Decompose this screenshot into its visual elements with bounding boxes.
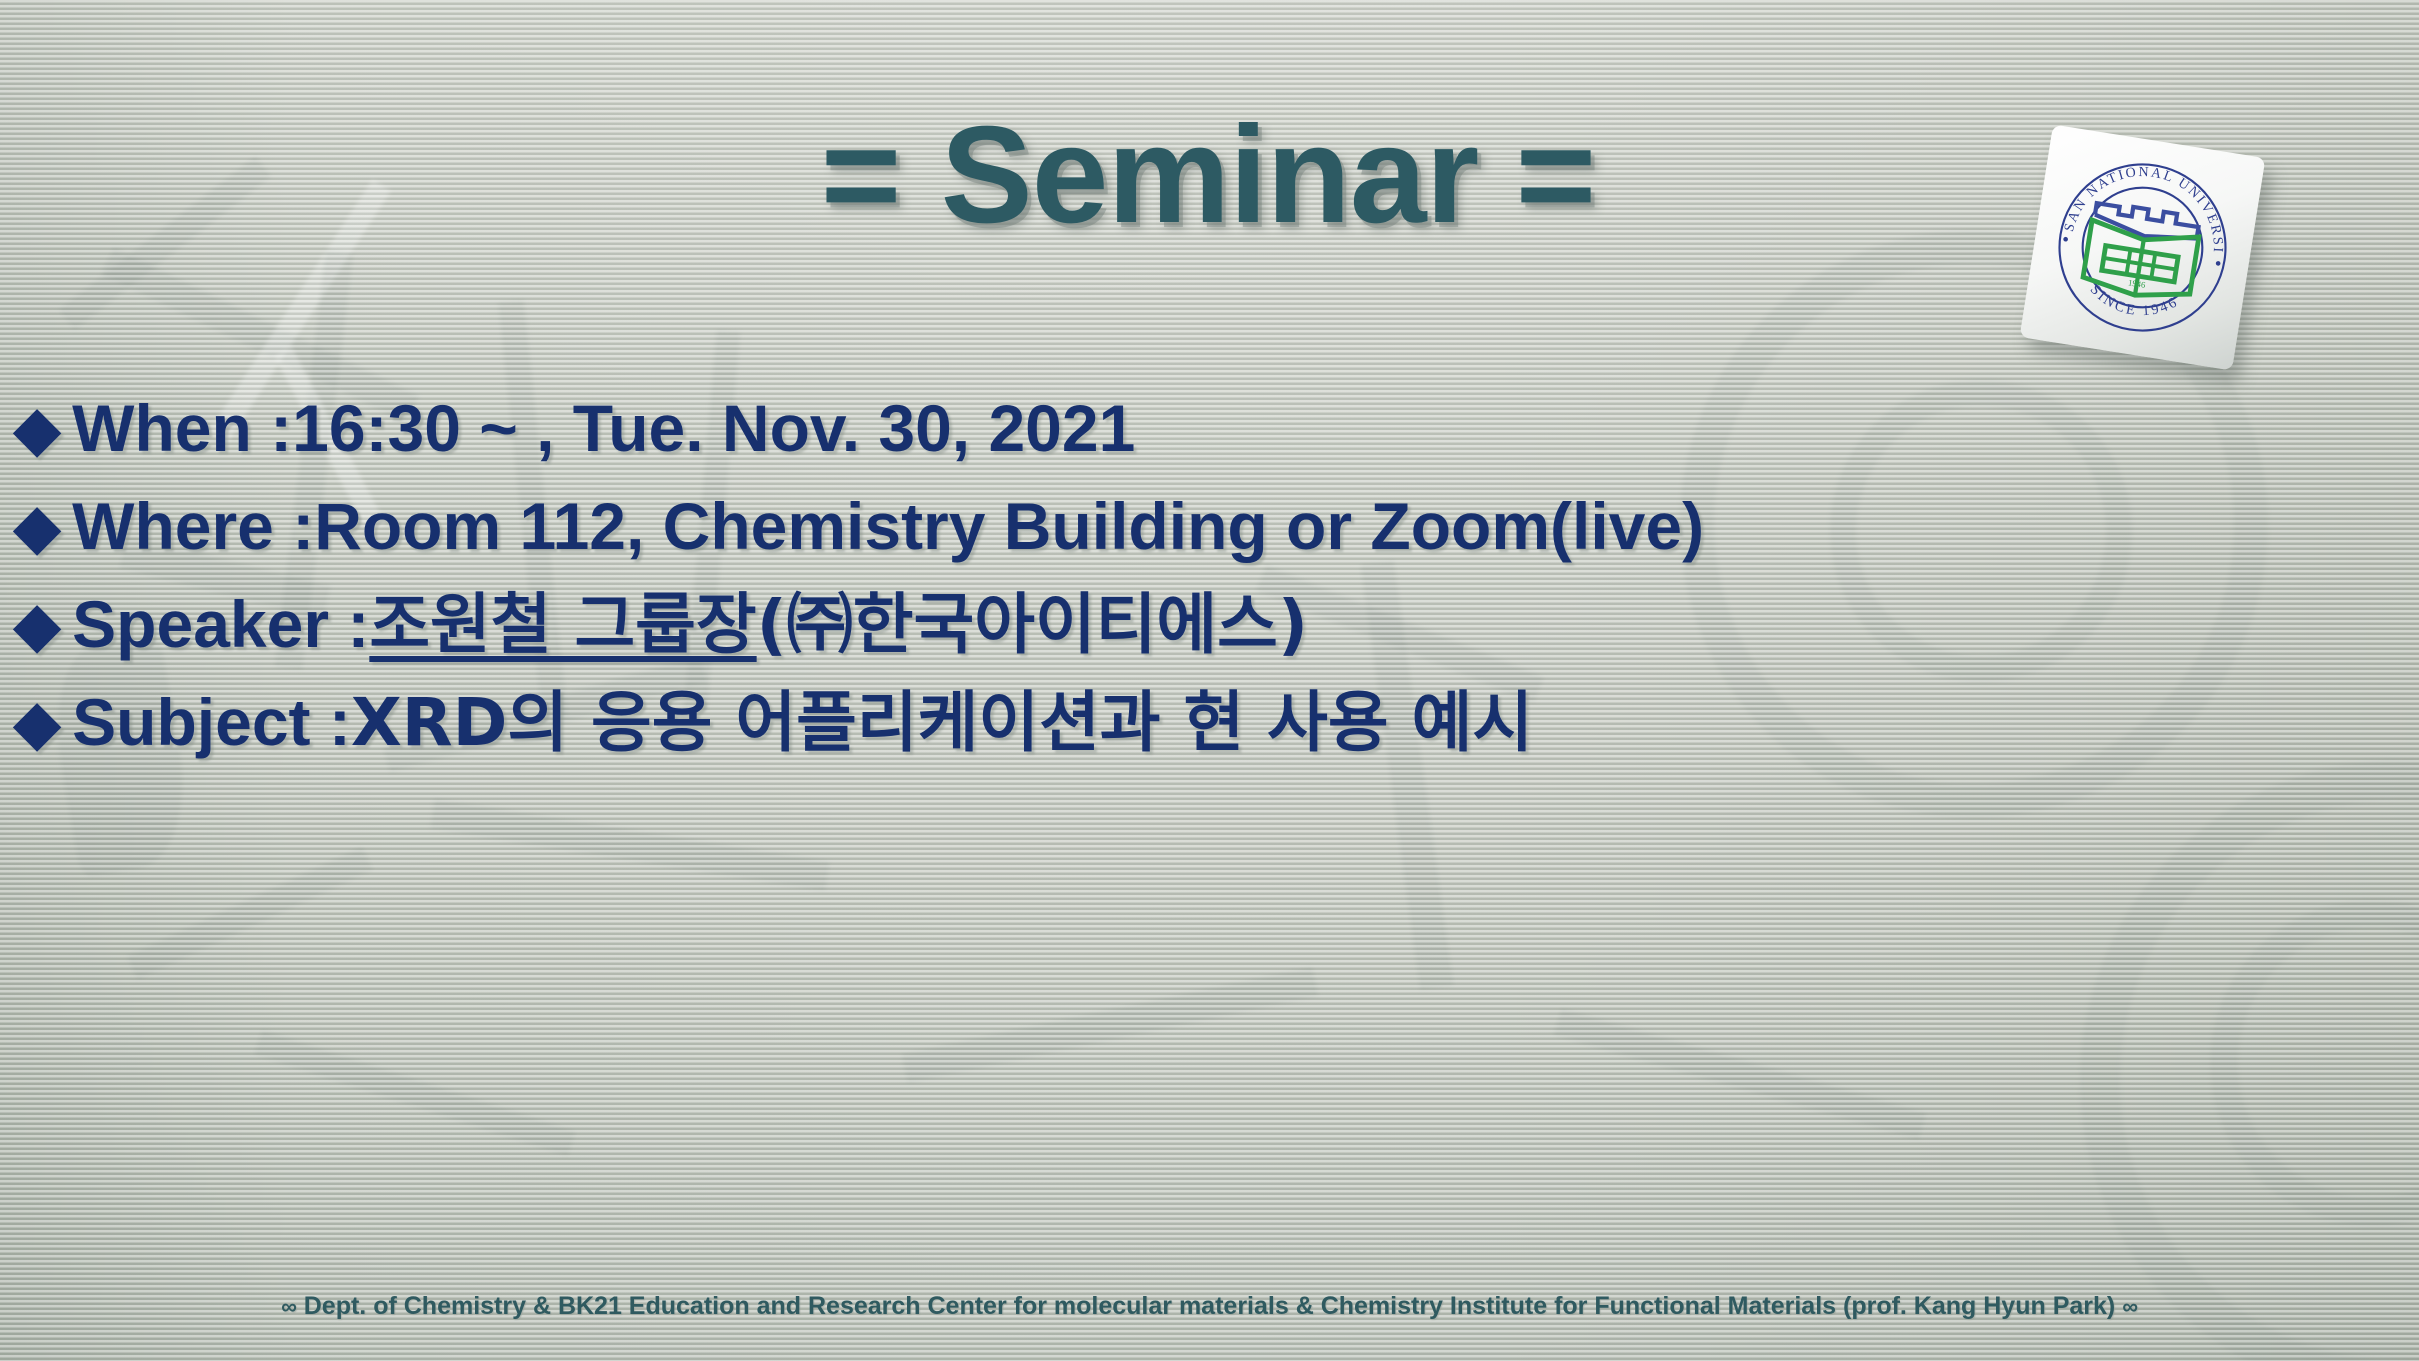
list-item: ◆ Speaker : 조원철 그룹장 (㈜한국아이티에스) [14,588,2405,662]
title-text: Seminar [941,98,1479,252]
bullet-value: Room 112, Chemistry Building or Zoom(liv… [314,490,1704,564]
footer-text: Dept. of Chemistry & BK21 Education and … [304,1292,2116,1320]
footer: ∞ Dept. of Chemistry & BK21 Education an… [0,1292,2419,1321]
bullet-list: ◆ When : 16:30 ~ , Tue. Nov. 30, 2021 ◆ … [14,392,2405,760]
diamond-bullet-icon: ◆ [14,595,60,655]
university-logo: PUSAN NATIONAL UNIVERSITY SINCE 1946 194… [2020,125,2266,371]
list-item: ◆ Subject : XRD의 응용 어플리케이션과 현 사용 예시 [14,686,2405,760]
speaker-name: 조원철 그룹장 [369,588,756,662]
diamond-bullet-icon: ◆ [14,497,60,557]
bullet-label: Subject : [72,686,351,760]
bullet-value: XRD의 응용 어플리케이션과 현 사용 예시 [351,686,1533,760]
bullet-value: 16:30 ~ , Tue. Nov. 30, 2021 [292,392,1135,466]
title-left-marker: = [821,98,904,252]
seminar-slide: = Seminar = PUSAN NATIONAL UNIVERSITY SI… [0,0,2419,1361]
infinity-right-icon: ∞ [2122,1294,2138,1319]
pnu-seal-icon: PUSAN NATIONAL UNIVERSITY SINCE 1946 194… [2032,137,2253,358]
svg-text:1946: 1946 [2127,277,2146,290]
bullet-label: When : [72,392,292,466]
diamond-bullet-icon: ◆ [14,693,60,753]
title-right-marker: = [1516,98,1599,252]
diamond-bullet-icon: ◆ [14,399,60,459]
bullet-label: Where : [72,490,314,564]
infinity-left-icon: ∞ [281,1294,297,1319]
list-item: ◆ Where : Room 112, Chemistry Building o… [14,490,2405,564]
speaker-affiliation: (㈜한국아이티에스) [757,588,1308,662]
bullet-label: Speaker : [72,588,369,662]
list-item: ◆ When : 16:30 ~ , Tue. Nov. 30, 2021 [14,392,2405,466]
